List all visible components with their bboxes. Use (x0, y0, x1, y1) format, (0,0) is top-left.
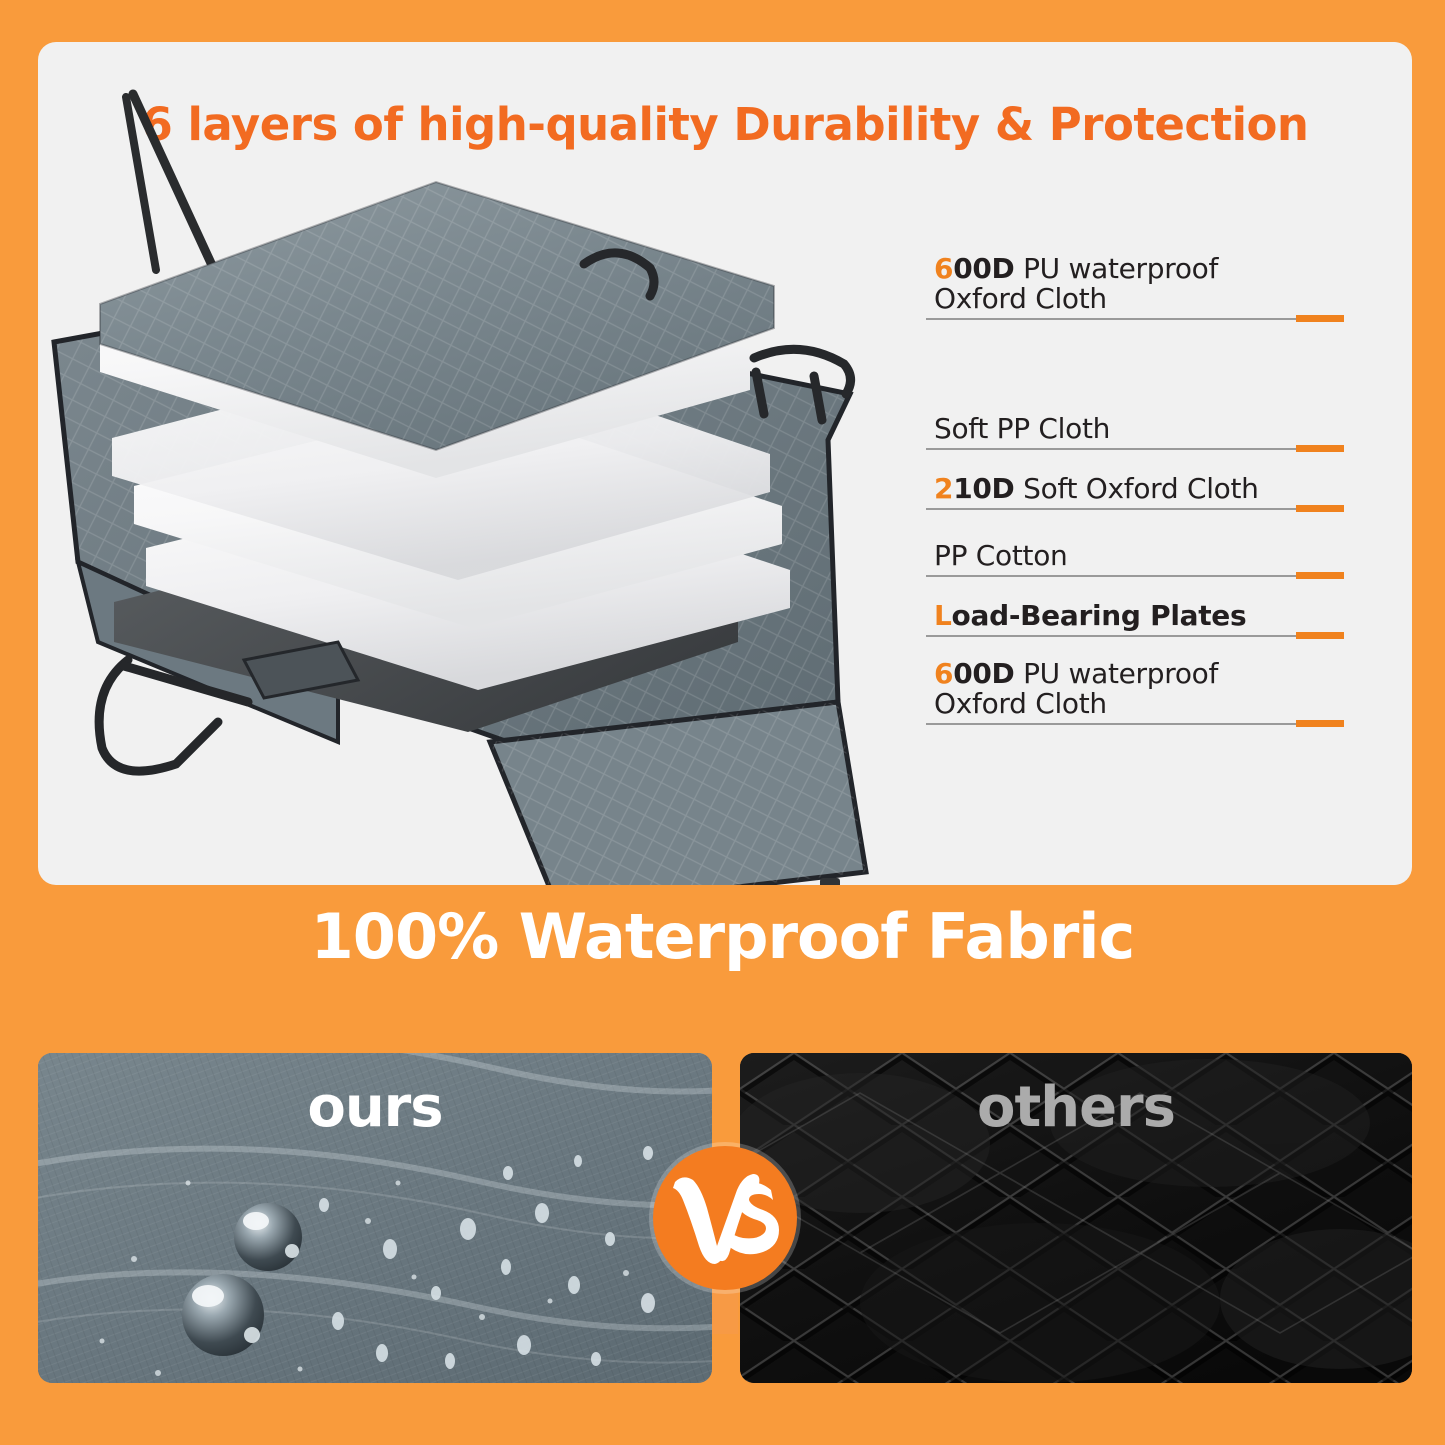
callout-tick (1296, 720, 1344, 727)
callout-layer-6: 600D PU waterproof Oxford Cloth (896, 637, 1396, 725)
callout-layer-2-text: Soft PP Cloth (934, 414, 1110, 444)
callout-layer-4: PP Cotton (896, 510, 1396, 577)
callout-layer-3-text: 210D Soft Oxford Cloth (934, 474, 1259, 504)
vs-badge (653, 1146, 797, 1290)
callout-rule (926, 723, 1326, 725)
callout-layer-6-text: 600D PU waterproof Oxford Cloth (934, 659, 1218, 719)
callout-rule (926, 318, 1326, 320)
callout-tick (1296, 315, 1344, 322)
comparison-panel-ours: ours (38, 1053, 712, 1383)
callout-layer-5: Load-Bearing Plates (896, 577, 1396, 637)
callout-layer-1: 600D PU waterproof Oxford Cloth (896, 232, 1396, 320)
panel-label-others: others (740, 1075, 1412, 1140)
waterproof-banner-title: 100% Waterproof Fabric (0, 900, 1445, 973)
callout-layer-5-text: Load-Bearing Plates (934, 601, 1246, 631)
layers-info-card: 6 layers of high-quality Durability & Pr… (38, 42, 1412, 885)
callout-layer-4-text: PP Cotton (934, 541, 1068, 571)
callout-layer-1-text: 600D PU waterproof Oxford Cloth (934, 254, 1218, 314)
product-exploded-illustration (38, 42, 898, 885)
callout-layer-2: Soft PP Cloth (896, 372, 1396, 450)
comparison-panel-others: others (740, 1053, 1412, 1383)
callout-layer-3: 210D Soft Oxford Cloth (896, 450, 1396, 510)
panel-label-ours: ours (38, 1075, 712, 1140)
